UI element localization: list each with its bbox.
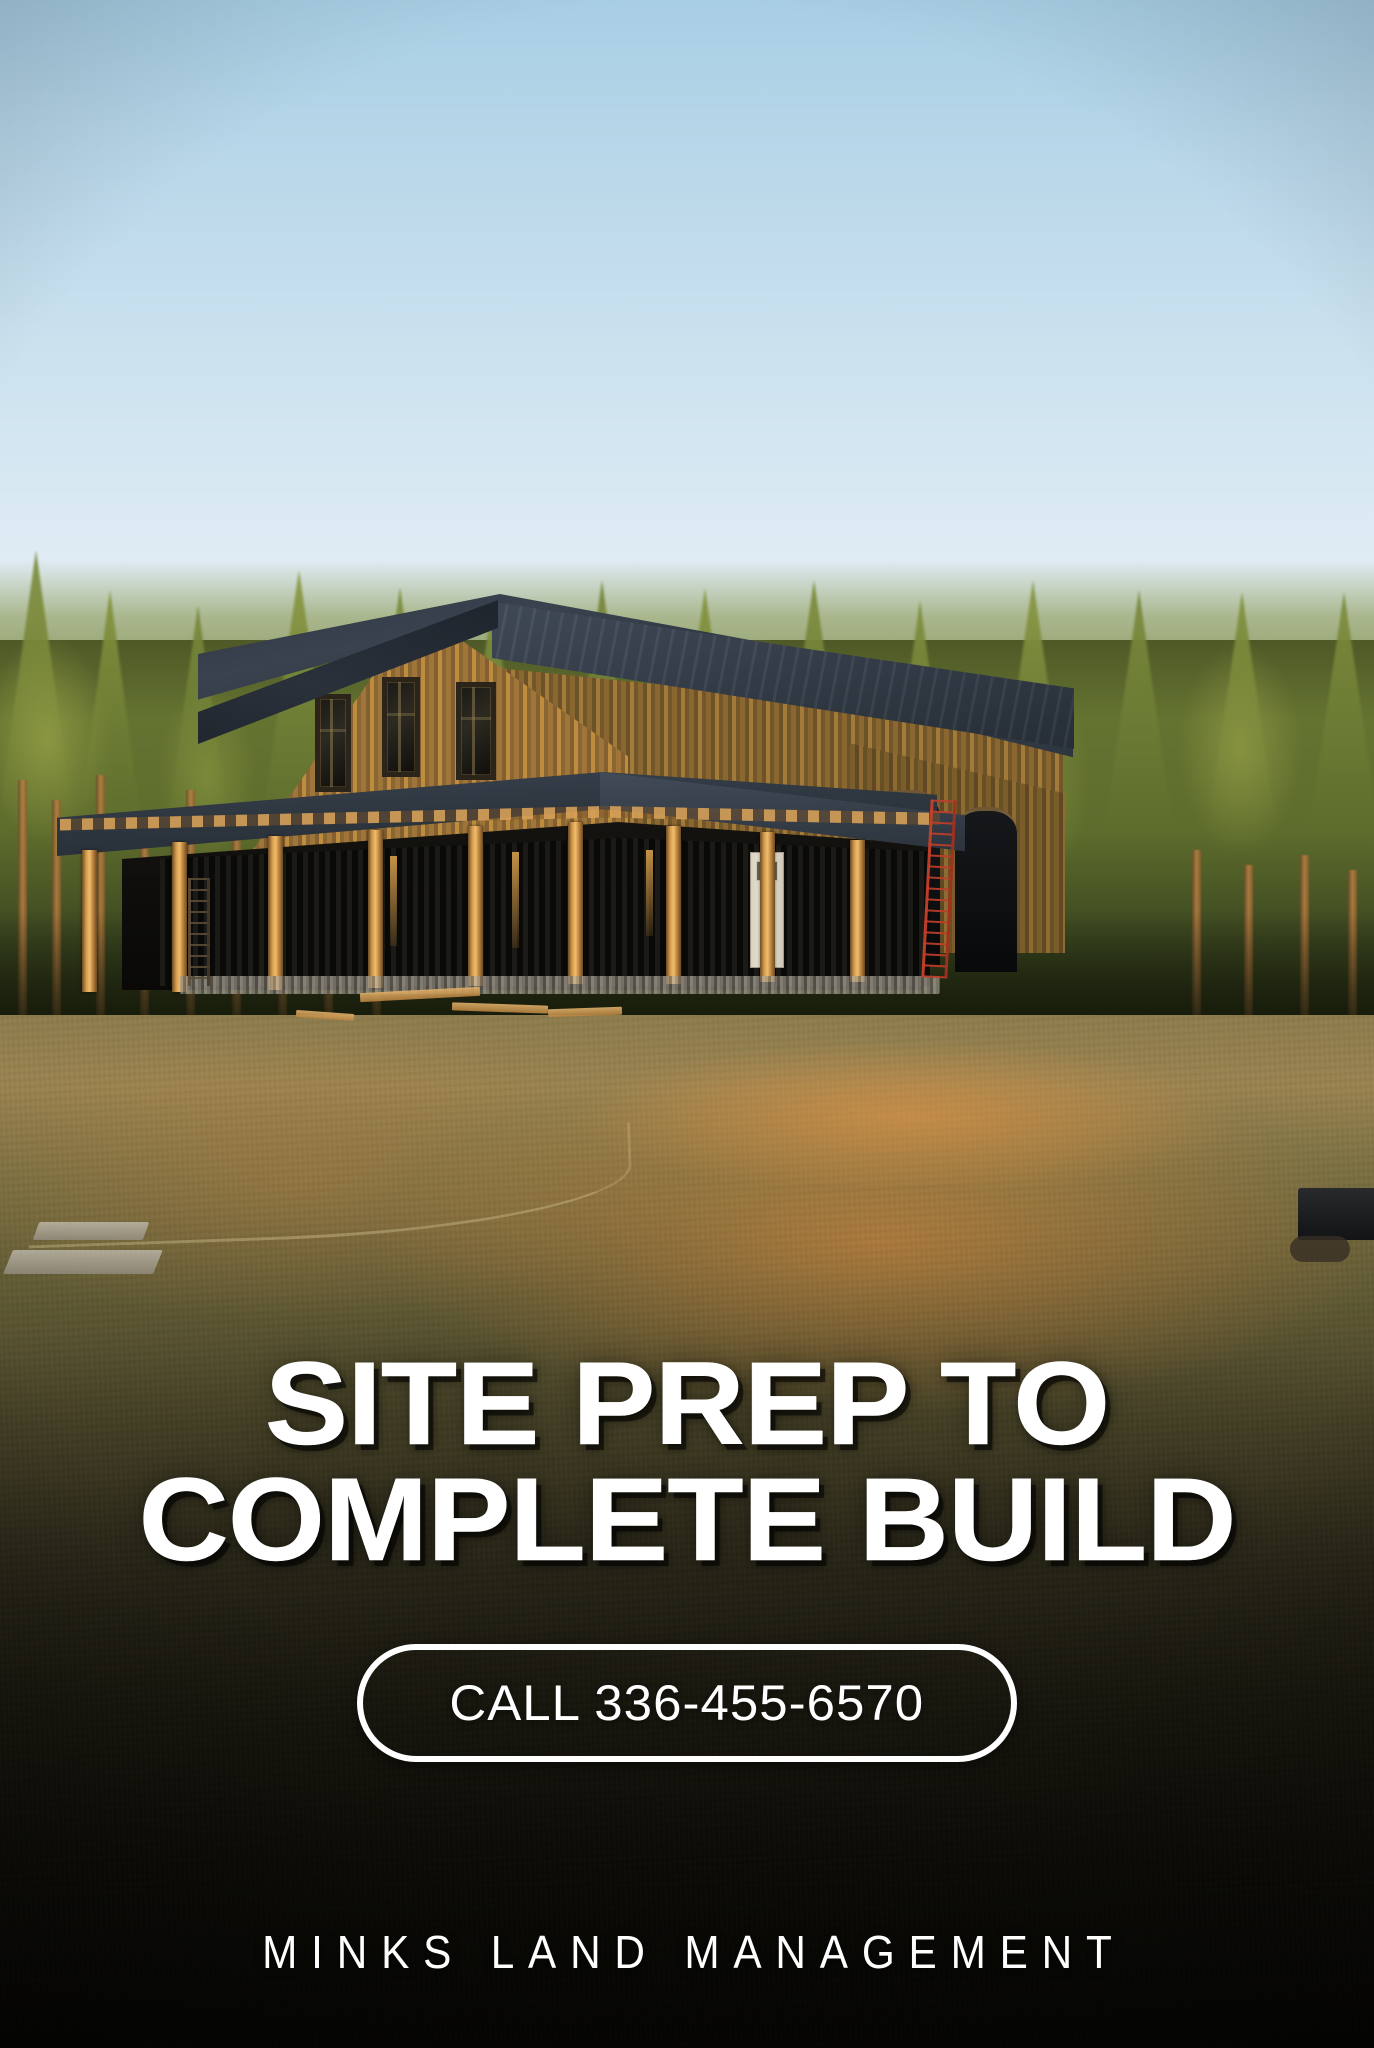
text-overlay: SITE PREP TO COMPLETE BUILD CALL 336-455… <box>0 0 1374 2048</box>
call-cta-button[interactable]: CALL 336-455-6570 <box>357 1644 1017 1762</box>
call-cta-label: CALL 336-455-6570 <box>450 1674 925 1732</box>
headline-line-2: COMPLETE BUILD <box>0 1463 1374 1579</box>
headline-line-1: SITE PREP TO <box>0 1347 1374 1463</box>
page-title: SITE PREP TO COMPLETE BUILD <box>0 1347 1374 1578</box>
brand-name: MINKS LAND MANAGEMENT <box>55 1925 1319 1979</box>
poster-canvas: SITE PREP TO COMPLETE BUILD CALL 336-455… <box>0 0 1374 2048</box>
